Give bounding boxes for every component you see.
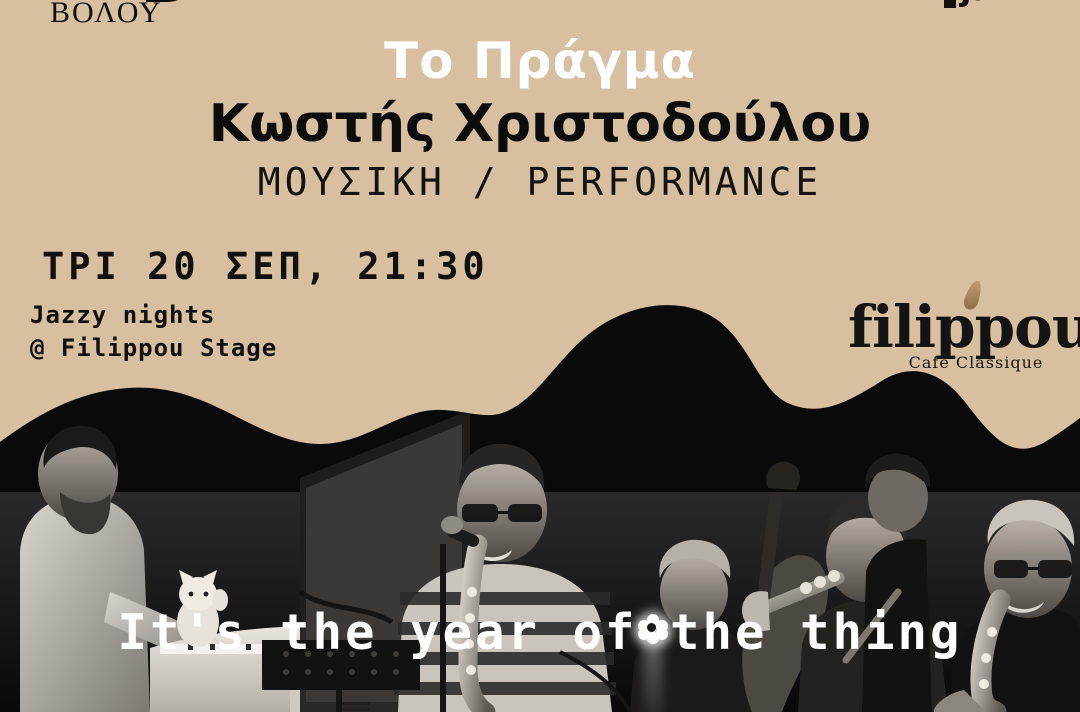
jazz-logo-bar <box>944 0 956 8</box>
artist-name: Κωστής Χριστοδούλου <box>0 98 1080 150</box>
event-kind: ΜΟΥΣΙΚΗ / PERFORMANCE <box>0 163 1080 201</box>
venue-logo-text: ΒΟΛΟΥ <box>50 0 163 28</box>
venue-logo: ΒΟΛΟΥ <box>0 0 230 40</box>
poster-tagline: It's the year of the thing <box>0 608 1080 657</box>
jazz-logo-text: jazz <box>960 0 1026 6</box>
jazz-logo: jazz <box>940 0 1050 16</box>
sponsor-name: filippou <box>848 300 1058 355</box>
event-venue: @ Filippou Stage <box>30 336 277 360</box>
sponsor-logo: filippou Café Classique <box>848 300 1058 372</box>
event-date: ΤΡΙ 20 ΣΕΠ, 21:30 <box>42 248 489 285</box>
show-title: Το Πράγμα <box>0 36 1080 86</box>
event-poster: ΒΟΛΟΥ jazz Το Πράγμα Κωστής Χριστοδούλου… <box>0 0 1080 712</box>
event-series: Jazzy nights <box>30 303 215 327</box>
